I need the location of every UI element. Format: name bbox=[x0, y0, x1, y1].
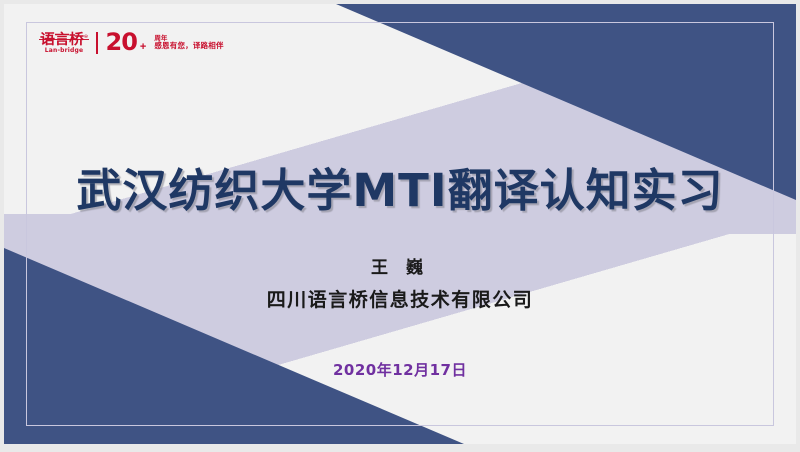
logo-wordmark: 语言桥® Lan-bridge bbox=[40, 32, 88, 54]
slide-canvas: 语言桥® Lan-bridge 20 + 周年 感恩有您，译路相伴 武汉纺织大学… bbox=[4, 4, 796, 444]
anniversary-plus-icon: + bbox=[140, 41, 146, 53]
anniversary-number: 20 bbox=[106, 32, 137, 54]
logo-divider bbox=[96, 32, 98, 54]
presenter-name: 王 巍 bbox=[371, 253, 429, 278]
logo-slogan: 感恩有您，译路相伴 bbox=[154, 42, 223, 51]
registered-trademark-icon: ® bbox=[84, 34, 89, 40]
slide-viewport: 语言桥® Lan-bridge 20 + 周年 感恩有您，译路相伴 武汉纺织大学… bbox=[0, 0, 800, 452]
company-name: 四川语言桥信息技术有限公司 bbox=[267, 285, 534, 312]
lan-bridge-logo: 语言桥® Lan-bridge 20 + 周年 感恩有您，译路相伴 bbox=[40, 32, 224, 54]
logo-tagline-stack: 周年 感恩有您，译路相伴 bbox=[154, 35, 223, 51]
slide-content: 武汉纺织大学MTI翻译认知实习 王 巍 四川语言桥信息技术有限公司 2020年1… bbox=[4, 4, 796, 444]
logo-english-name: Lan-bridge bbox=[45, 48, 84, 54]
slide-title: 武汉纺织大学MTI翻译认知实习 bbox=[76, 154, 723, 219]
logo-chinese-name-text: 语言桥 bbox=[40, 30, 84, 47]
slide-date: 2020年12月17日 bbox=[333, 359, 467, 380]
logo-chinese-name: 语言桥® bbox=[40, 32, 88, 46]
